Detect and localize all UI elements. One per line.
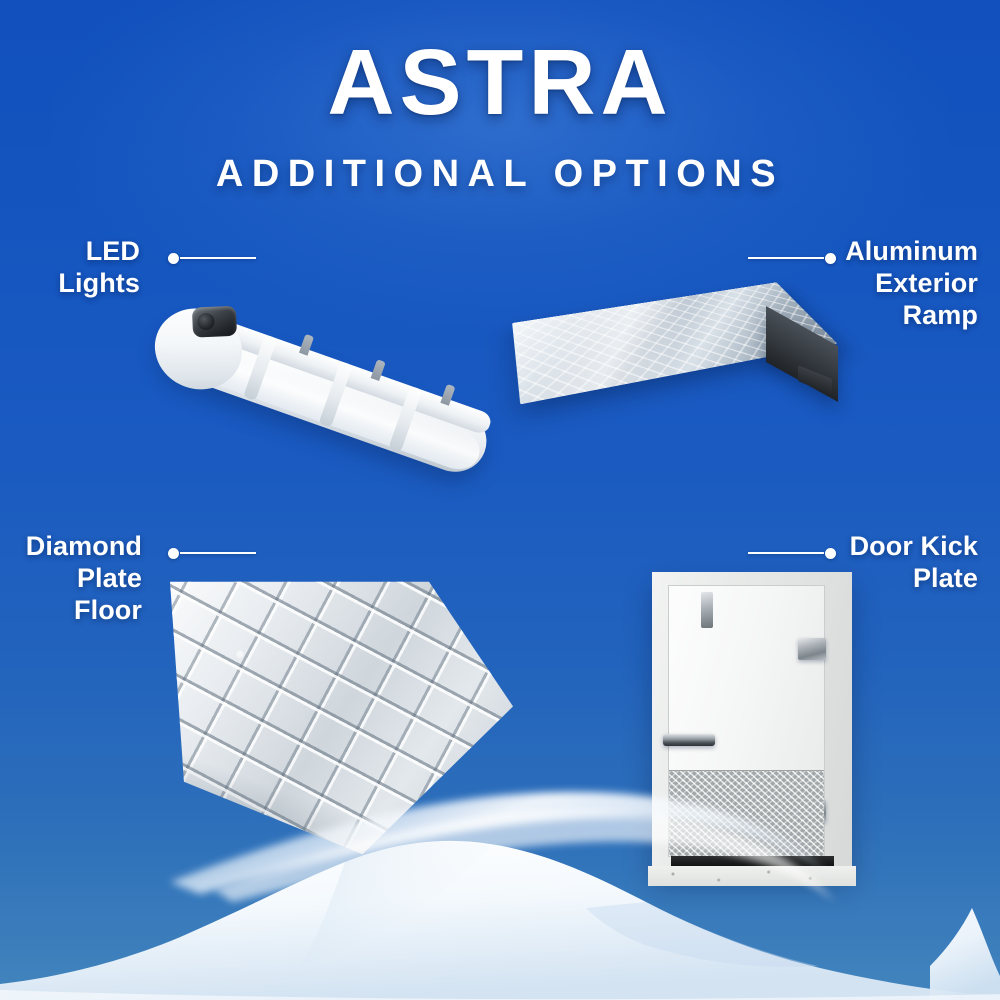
leader-rule (180, 552, 256, 554)
led-fixture-graphic (130, 279, 509, 512)
product-door-kick-plate (652, 572, 852, 872)
door-floor-strip (648, 866, 856, 886)
door-kick-plate-panel (669, 770, 824, 856)
leader-dot-icon (168, 548, 179, 559)
door-handle-icon (663, 734, 715, 746)
diamond-plate-edge-shading (163, 573, 513, 863)
product-aluminum-exterior-ramp (520, 268, 840, 428)
led-cable-gland-icon (192, 306, 237, 338)
door-leaf (668, 585, 825, 857)
leader-line-led-lights (168, 252, 256, 264)
poster-subtitle: ADDITIONAL OPTIONS (0, 155, 1000, 193)
brand-title: ASTRA (0, 36, 1000, 129)
poster-canvas: ASTRA ADDITIONAL OPTIONS LED Lights Alum… (0, 0, 1000, 1000)
leader-line-diamond-plate-floor (168, 547, 256, 559)
door-bottom-sweep (671, 856, 834, 866)
product-led-lights (150, 268, 520, 438)
label-led-lights: LED Lights (10, 236, 140, 300)
poster-header: ASTRA ADDITIONAL OPTIONS (0, 0, 1000, 193)
leader-rule (180, 257, 256, 259)
door-top-latch-icon (701, 592, 713, 628)
leader-dot-icon (168, 253, 179, 264)
label-diamond-plate-floor: Diamond Plate Floor (0, 531, 142, 627)
door-frame (652, 572, 852, 872)
product-diamond-plate-floor (163, 573, 513, 863)
door-hinge-top-icon (798, 638, 826, 660)
